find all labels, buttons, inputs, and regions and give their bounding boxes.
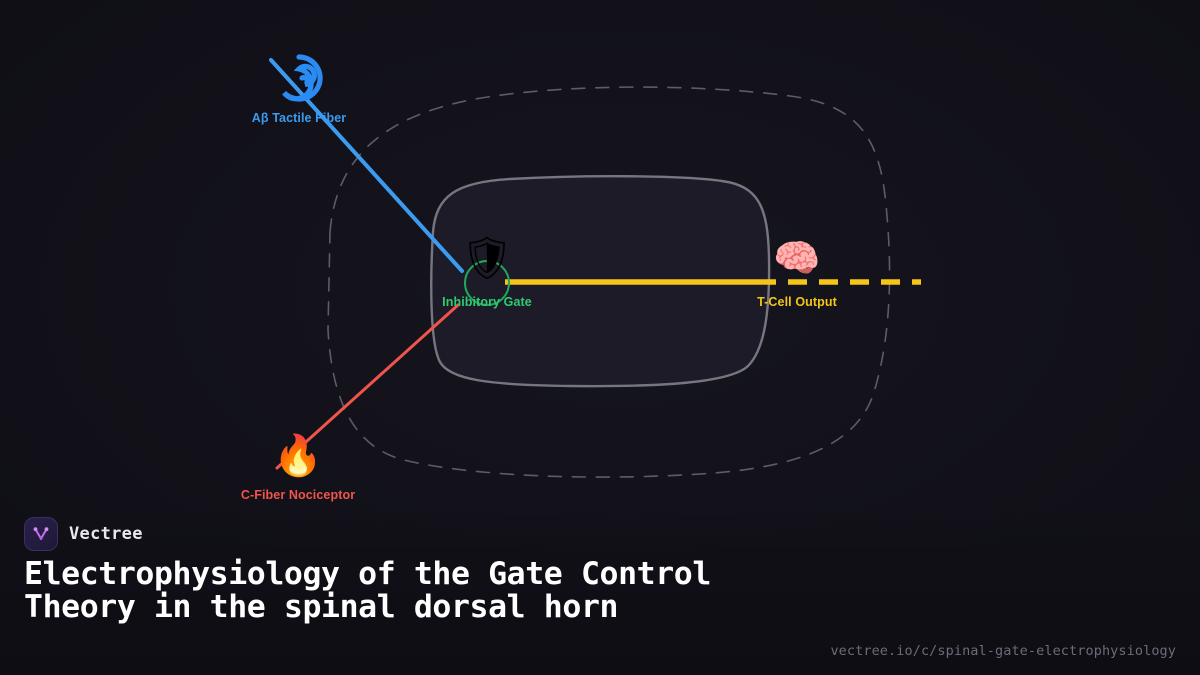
footer-bar: Vectree Electrophysiology of the Gate Co… xyxy=(0,510,1200,675)
edge-abeta-to-gate xyxy=(271,60,462,271)
diagram-canvas: 🛡 🧠 🔥 Aβ Tactile Fiber Inhibitory Gate T… xyxy=(0,0,1200,675)
brand-name: Vectree xyxy=(69,524,143,544)
brain-icon: 🧠 xyxy=(773,239,820,277)
brand-block: Vectree xyxy=(24,517,143,551)
fire-icon: 🔥 xyxy=(273,436,323,476)
page-title: Electrophysiology of the Gate Control Th… xyxy=(24,558,824,623)
deck-url: vectree.io/c/spinal-gate-electrophysiolo… xyxy=(830,643,1176,659)
shield-icon: 🛡 xyxy=(460,237,513,279)
vectree-logo-icon xyxy=(24,517,58,551)
